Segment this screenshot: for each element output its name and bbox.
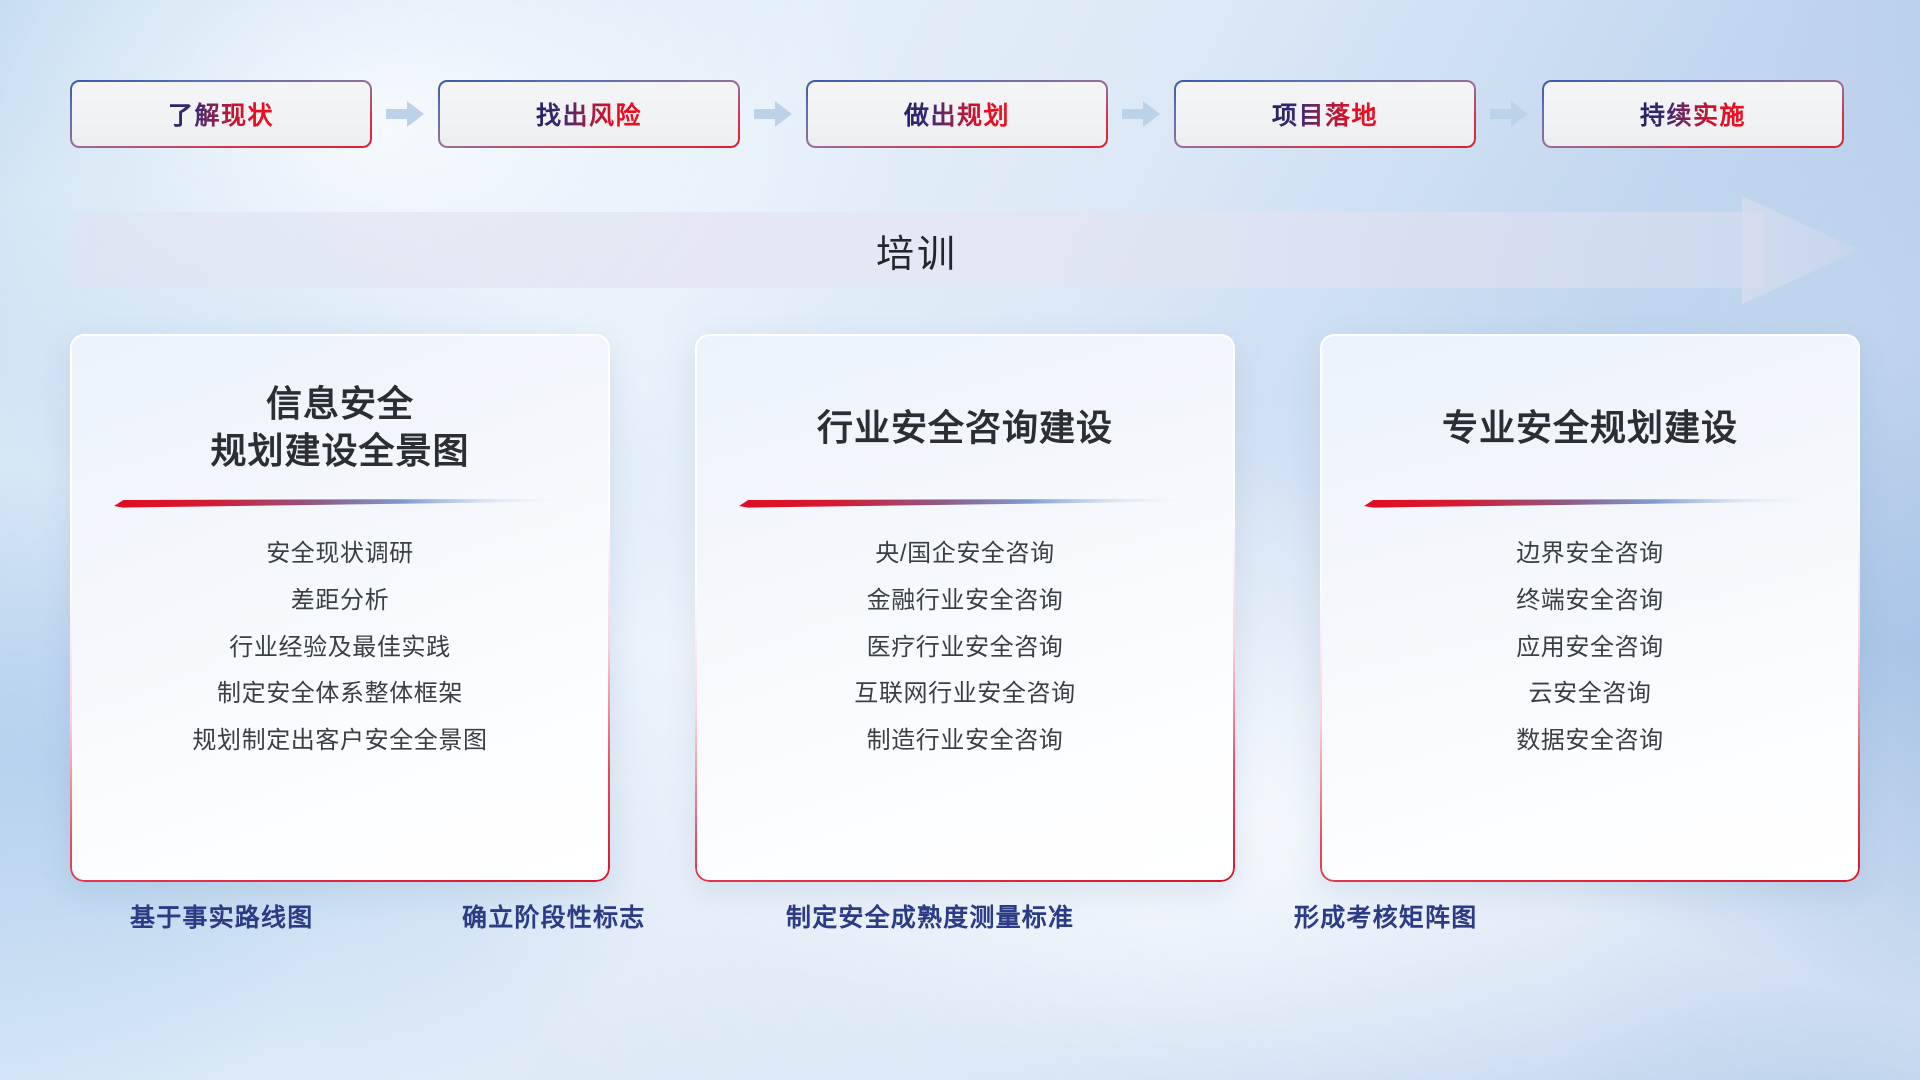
arrow-right-icon — [1490, 97, 1528, 131]
card-title-line: 信息安全 — [96, 381, 584, 428]
caption-milestone: 确立阶段性标志 — [462, 898, 645, 934]
card-title-line: 行业安全咨询建设 — [721, 405, 1209, 452]
list-item[interactable]: 行业经验及最佳实践 — [229, 634, 450, 663]
banner-title: 培训 — [70, 212, 1764, 288]
card-item-list: 央/国企安全咨询 金融行业安全咨询 医疗行业安全咨询 互联网行业安全咨询 制造行… — [721, 540, 1209, 756]
card-title: 信息安全 规划建设全景图 — [96, 380, 584, 476]
card-title-line: 规划建设全景图 — [96, 428, 584, 475]
card-item-list: 边界安全咨询 终端安全咨询 应用安全咨询 云安全咨询 数据安全咨询 — [1346, 540, 1834, 756]
card-divider — [739, 498, 1191, 508]
arrow-right-icon — [754, 97, 792, 131]
process-step-bar: 了解现状 找出风险 做出规划 项目落地 — [70, 80, 1860, 148]
card-wrapper-1: 信息安全 规划建设全景图 — [70, 334, 610, 882]
list-item[interactable]: 互联网行业安全咨询 — [854, 680, 1075, 709]
caption-maturity: 制定安全成熟度测量标准 — [786, 898, 1074, 934]
card-title: 行业安全咨询建设 — [721, 380, 1209, 476]
arrow-right-icon — [386, 97, 424, 131]
caption-roadmap: 基于事实路线图 — [130, 898, 313, 934]
card-professional-security-planning[interactable]: 专业安全规划建设 — [1320, 334, 1860, 882]
step-label: 持续实施 — [1640, 96, 1746, 132]
list-item[interactable]: 数据安全咨询 — [1516, 727, 1664, 756]
step-chip-5[interactable]: 持续实施 — [1542, 80, 1844, 148]
card-wrapper-2: 行业安全咨询建设 — [695, 334, 1235, 882]
step-chip-4[interactable]: 项目落地 — [1174, 80, 1476, 148]
list-item[interactable]: 医疗行业安全咨询 — [867, 634, 1064, 663]
list-item[interactable]: 金融行业安全咨询 — [867, 587, 1064, 616]
step-chip-1[interactable]: 了解现状 — [70, 80, 372, 148]
step-label: 找出风险 — [536, 96, 642, 132]
caption-matrix: 形成考核矩阵图 — [1294, 898, 1477, 934]
list-item[interactable]: 应用安全咨询 — [1516, 634, 1664, 663]
card-title-line: 专业安全规划建设 — [1346, 405, 1834, 452]
list-item[interactable]: 差距分析 — [291, 587, 389, 616]
card-title: 专业安全规划建设 — [1346, 380, 1834, 476]
step-chip-3[interactable]: 做出规划 — [806, 80, 1108, 148]
card-wrapper-3: 专业安全规划建设 — [1320, 334, 1860, 882]
card-item-list: 安全现状调研 差距分析 行业经验及最佳实践 制定安全体系整体框架 规划制定出客户… — [96, 540, 584, 756]
step-label: 做出规划 — [904, 96, 1010, 132]
slide-canvas: 了解现状 找出风险 做出规划 项目落地 — [0, 0, 1920, 1080]
list-item[interactable]: 云安全咨询 — [1529, 680, 1652, 709]
step-chip-2[interactable]: 找出风险 — [438, 80, 740, 148]
card-information-security-blueprint[interactable]: 信息安全 规划建设全景图 — [70, 334, 610, 882]
training-banner: 培训 — [70, 196, 1860, 304]
card-divider — [114, 498, 566, 508]
cards-row: 信息安全 规划建设全景图 — [70, 334, 1860, 882]
arrow-right-icon — [1122, 97, 1160, 131]
card-divider — [1364, 498, 1816, 508]
list-item[interactable]: 边界安全咨询 — [1516, 540, 1664, 569]
list-item[interactable]: 安全现状调研 — [266, 540, 414, 569]
footer-captions: 基于事实路线图 确立阶段性标志 制定安全成熟度测量标准 形成考核矩阵图 — [0, 898, 1920, 958]
step-label: 了解现状 — [168, 96, 274, 132]
card-industry-security-consulting[interactable]: 行业安全咨询建设 — [695, 334, 1235, 882]
list-item[interactable]: 制定安全体系整体框架 — [217, 680, 463, 709]
list-item[interactable]: 央/国企安全咨询 — [875, 540, 1054, 569]
list-item[interactable]: 终端安全咨询 — [1516, 587, 1664, 616]
step-label: 项目落地 — [1272, 96, 1378, 132]
list-item[interactable]: 规划制定出客户安全全景图 — [192, 727, 487, 756]
list-item[interactable]: 制造行业安全咨询 — [867, 727, 1064, 756]
